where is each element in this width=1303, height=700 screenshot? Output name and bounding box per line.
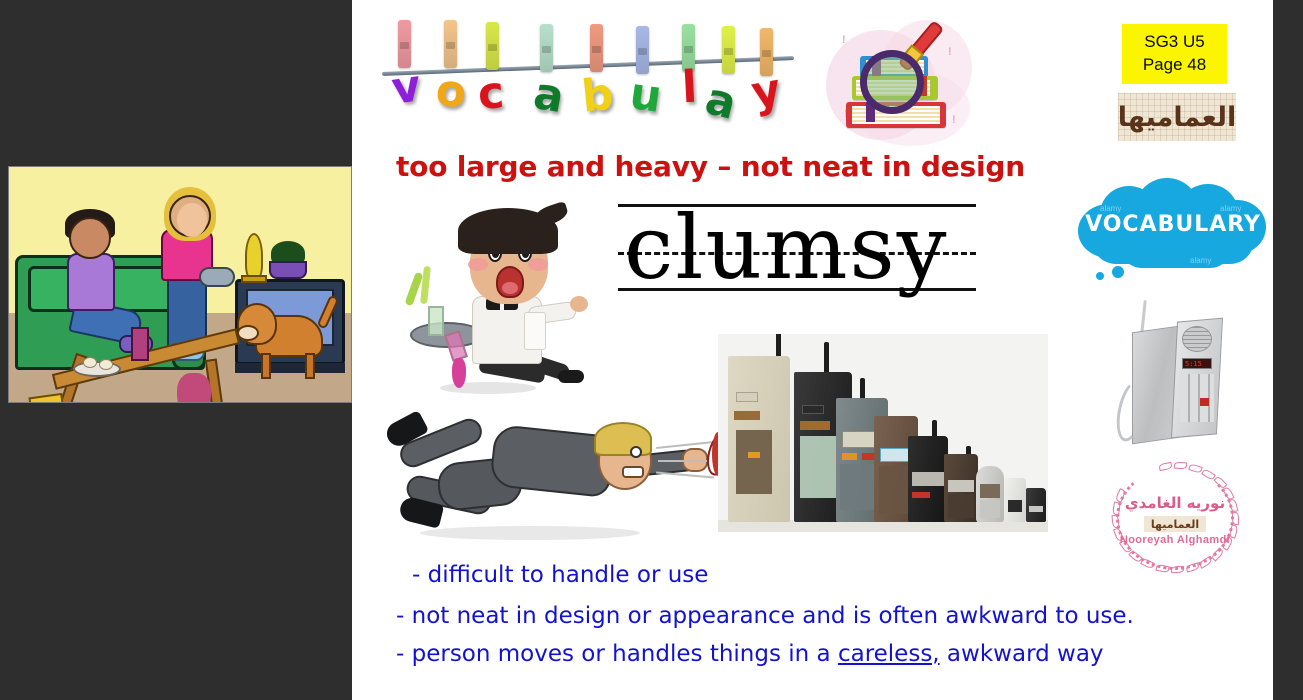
definition-line-3: - person moves or handles things in a ca… <box>396 641 1104 667</box>
sparkle-icon-4: ! <box>952 114 956 126</box>
definition-3-text-pre: - person moves or handles things in a <box>396 641 838 667</box>
cloud-tail-dot-2 <box>1096 272 1104 280</box>
tv-stand <box>235 363 345 373</box>
vocabulary-letter: b <box>580 72 616 119</box>
phone-1-keypad <box>736 430 772 494</box>
diver-shadow <box>420 526 640 540</box>
vintage-brick-phone-icon: 5:15 <box>1112 300 1252 450</box>
spilled-drink <box>177 373 211 403</box>
cloud-tail-dot-1 <box>1112 266 1124 278</box>
phone-2-keypad <box>800 436 840 498</box>
phone-2-display <box>800 421 830 430</box>
vocabulary-cloud-sticker: VOCABULARY alamy alamy alamy <box>1078 178 1268 276</box>
waiter-cheek-left <box>468 258 488 271</box>
vocabulary-word: clumsy <box>624 202 974 294</box>
vocabulary-cloud-label: VOCABULARY <box>1078 212 1268 237</box>
sparkle-icon-1: ! <box>842 34 846 46</box>
dog-rear-leg <box>305 353 315 379</box>
phone-3-orange-key <box>842 453 857 460</box>
girl-a-body <box>67 253 115 311</box>
wreath-leaf <box>1232 512 1239 525</box>
page-reference-line-2: Page 48 <box>1143 54 1206 77</box>
vocabulary-letter: l <box>681 66 698 111</box>
vocabulary-letter: u <box>627 72 664 120</box>
clothespin-icon-8 <box>722 26 735 74</box>
author-stamp: العماميها <box>1144 516 1206 532</box>
girl-b-shoe-upper <box>199 267 235 287</box>
waiter-hand <box>570 296 588 312</box>
definition-line-1: - difficult to handle or use <box>412 562 708 588</box>
waiter-slipping-icon <box>400 200 610 400</box>
waiter-tongue <box>502 282 518 294</box>
food-item-1 <box>83 357 97 368</box>
author-name-latin: Nooreyah Alghamdi <box>1100 534 1250 546</box>
author-name-arabic: نوريه الغامدي <box>1100 494 1250 512</box>
definition-line-2: - not neat in design or appearance and i… <box>396 603 1134 629</box>
clothespin-icon-3 <box>486 22 499 70</box>
definition-2-text: - not neat in design or appearance and i… <box>396 603 1134 629</box>
definition-1-text: - difficult to handle or use <box>412 562 708 588</box>
phone-1-speaker <box>736 392 758 402</box>
clothespin-icon-5 <box>590 24 603 72</box>
waiter-shoe <box>558 370 584 383</box>
vocabulary-letter: o <box>434 69 469 116</box>
vocabulary-clothesline-art: vocabulay <box>382 18 794 136</box>
diver-hair <box>594 422 652 456</box>
books-stack-magnifier-icon: ! ! ! ! <box>822 16 982 156</box>
phone-9-screen <box>1029 506 1043 512</box>
lava-lamp <box>245 233 263 279</box>
motion-line-1 <box>656 441 714 449</box>
vocabulary-letter: v <box>389 64 424 112</box>
motion-line-3 <box>656 471 714 478</box>
brick-phone-red-key <box>1200 398 1209 406</box>
magnifier-lens <box>860 50 924 114</box>
dog-snout <box>237 325 259 341</box>
clothespin-icon-4 <box>540 24 553 72</box>
diver-eye <box>630 446 642 458</box>
food-item-2 <box>99 359 113 370</box>
vocabulary-letter: c <box>476 71 505 117</box>
watermark-2: alamy <box>1220 204 1241 213</box>
green-splash-2 <box>420 266 431 305</box>
girl-a-head <box>69 217 111 259</box>
phone-1-display <box>734 411 760 420</box>
definition-3-text-post: awkward way <box>940 641 1104 667</box>
man-diving-for-plate-icon <box>382 408 702 548</box>
phone-2-speaker <box>802 405 824 414</box>
phone-7-keypad <box>980 500 1000 518</box>
phone-9-body <box>1026 488 1046 522</box>
diver-mouth <box>622 466 644 478</box>
phone-6-display <box>948 480 974 492</box>
girl-b-face <box>177 203 207 237</box>
page-reference-badge: SG3 U5 Page 48 <box>1122 24 1227 84</box>
brick-phone-antenna <box>1140 300 1147 334</box>
definition-3-keyword: careless, <box>838 641 940 667</box>
waiter-napkin <box>524 312 546 350</box>
screenshot-root: vocabulay ! ! ! ! t <box>0 0 1303 700</box>
phone-5-red-key <box>912 492 930 498</box>
page-title: too large and heavy – not neat in design <box>396 150 1016 183</box>
phone-8-screen <box>1008 500 1022 512</box>
phone-7-display <box>980 484 1000 498</box>
brick-phone-display: 5:15 <box>1182 358 1212 369</box>
green-drink-glass <box>428 306 444 336</box>
kids-messy-room-cartoon <box>8 166 352 403</box>
page-reference-line-1: SG3 U5 <box>1144 31 1204 54</box>
brick-phone-earpiece <box>1182 326 1212 352</box>
waiter-cheek-right <box>528 258 548 271</box>
vocabulary-letter: a <box>701 77 740 127</box>
wreath-leaf <box>1170 566 1183 573</box>
phone-6-keypad <box>948 494 974 518</box>
arabic-banner: العماميها <box>1118 93 1236 141</box>
plant-pot <box>269 261 307 279</box>
watermark-1: alamy <box>1100 204 1121 213</box>
watermark-3: alamy <box>1190 256 1211 265</box>
sparkle-icon-2: ! <box>948 46 952 58</box>
lava-lamp-base <box>241 275 267 283</box>
drink-glass <box>131 327 149 361</box>
mobile-phone-evolution-photo <box>718 334 1048 532</box>
plate <box>73 361 121 377</box>
clothespin-icon-2 <box>444 20 457 68</box>
pink-spill <box>452 358 466 388</box>
vocabulary-letter: a <box>530 72 567 120</box>
phone-1-orange-key <box>748 452 760 458</box>
phone-5-display <box>912 472 944 486</box>
handwriting-practice-block: clumsy <box>618 196 976 308</box>
author-wreath-logo: نوريه الغامدي العماميها Nooreyah Alghamd… <box>1100 460 1250 578</box>
clothespin-icon-6 <box>636 26 649 74</box>
brick-phone-display-text: 5:15 <box>1185 360 1202 368</box>
motion-line-2 <box>658 460 714 462</box>
dog-front-leg <box>261 353 271 379</box>
vocabulary-letter: y <box>748 68 784 116</box>
